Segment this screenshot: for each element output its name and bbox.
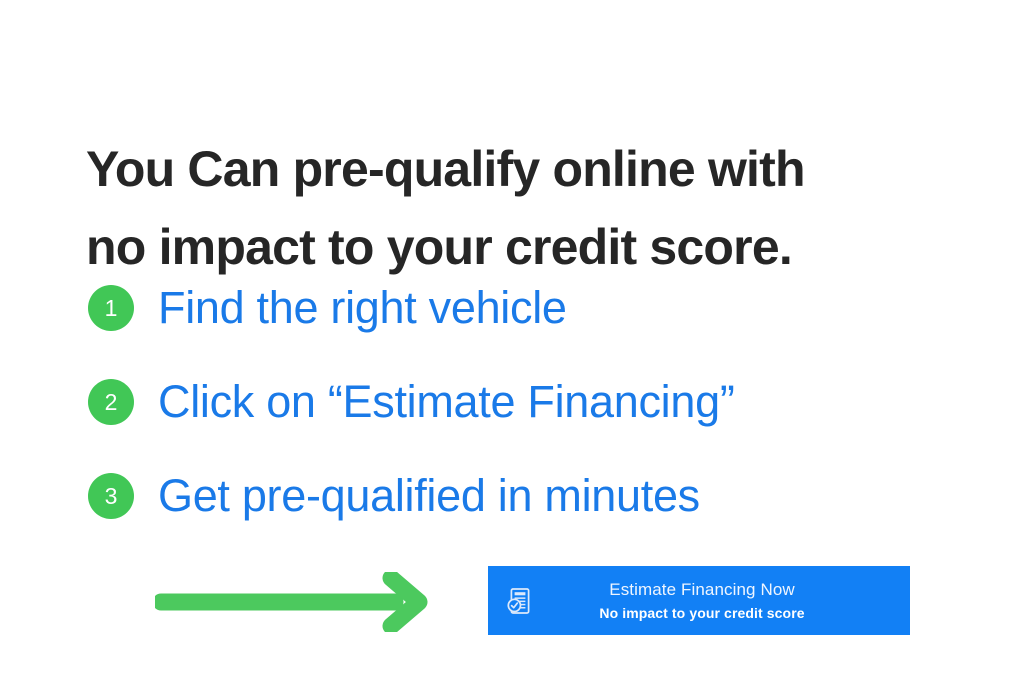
cta-text-block: Estimate Financing Now No impact to your… (550, 579, 910, 623)
steps-list: 1 Find the right vehicle 2 Click on “Est… (88, 283, 968, 521)
arrow-right-icon (155, 572, 450, 632)
step-label: Click on “Estimate Financing” (158, 377, 735, 427)
list-item: 1 Find the right vehicle (88, 283, 968, 333)
page-title: You Can pre-qualify online with no impac… (86, 130, 966, 286)
step-number-badge: 1 (88, 285, 134, 331)
step-label: Find the right vehicle (158, 283, 567, 333)
step-number-badge: 3 (88, 473, 134, 519)
headline-line-1: You Can pre-qualify online with (86, 130, 966, 208)
cta-title: Estimate Financing Now (609, 579, 795, 601)
estimate-financing-button[interactable]: Estimate Financing Now No impact to your… (488, 566, 910, 635)
document-check-icon (488, 587, 550, 615)
cta-subtitle: No impact to your credit score (599, 603, 804, 623)
list-item: 3 Get pre-qualified in minutes (88, 471, 968, 521)
step-label: Get pre-qualified in minutes (158, 471, 700, 521)
headline-line-2: no impact to your credit score. (86, 208, 966, 286)
promo-graphic: You Can pre-qualify online with no impac… (0, 0, 1024, 685)
step-number-badge: 2 (88, 379, 134, 425)
list-item: 2 Click on “Estimate Financing” (88, 377, 968, 427)
